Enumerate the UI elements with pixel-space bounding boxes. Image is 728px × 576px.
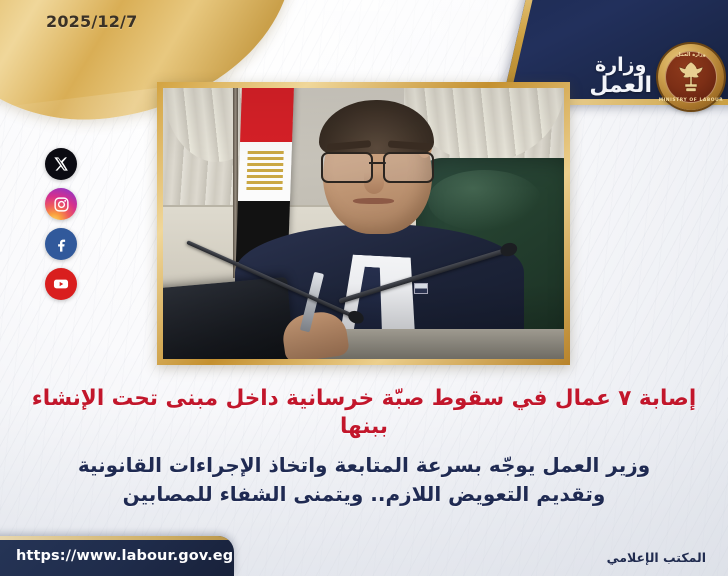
- website-url[interactable]: https://www.labour.gov.eg: [0, 548, 233, 564]
- facebook-icon: [53, 236, 70, 253]
- media-office-credit: المكتب الإعلامي: [607, 550, 706, 565]
- emblem-arc-bottom-text: MINISTRY OF LABOUR: [658, 98, 724, 103]
- ministry-name-line2: العمل: [589, 75, 652, 97]
- social-links: [45, 148, 77, 300]
- eyeglass-lens-left: [321, 152, 372, 183]
- youtube-icon: [52, 275, 70, 293]
- subline-2: وتقديم التعويض اللازم.. ويتمنى الشفاء لل…: [24, 480, 704, 510]
- egypt-eagle-seal-icon: وزارة العمل MINISTRY OF LABOUR: [658, 44, 724, 110]
- eyeglass-lens-right: [383, 152, 434, 183]
- subline-1: وزير العمل يوجّه بسرعة المتابعة واتخاذ ا…: [24, 451, 704, 481]
- minister-photo: [163, 88, 564, 359]
- news-card: 2025/12/7 وزارة العمل وزارة العمل MINIST…: [0, 0, 728, 576]
- photo-shading-overlay: [163, 88, 564, 359]
- news-text-block: إصابة ٧ عمال في سقوط صبّة خرسانية داخل م…: [24, 385, 704, 510]
- x-twitter-icon: [53, 156, 69, 172]
- emblem-arc-top-text: وزارة العمل: [658, 52, 724, 58]
- eagle-glyph-icon: [676, 60, 706, 94]
- eyeglasses-icon: [321, 152, 433, 179]
- social-link-instagram[interactable]: [45, 188, 77, 220]
- photo-frame: [157, 82, 570, 365]
- ministry-branding: وزارة العمل وزارة العمل MINISTRY OF LABO…: [524, 40, 724, 114]
- headline: إصابة ٧ عمال في سقوط صبّة خرسانية داخل م…: [24, 385, 704, 442]
- social-link-x[interactable]: [45, 148, 77, 180]
- date-label: 2025/12/7: [46, 12, 137, 31]
- website-url-banner[interactable]: https://www.labour.gov.eg: [0, 536, 234, 576]
- social-link-facebook[interactable]: [45, 228, 77, 260]
- instagram-icon: [53, 196, 70, 213]
- social-link-youtube[interactable]: [45, 268, 77, 300]
- ministry-name: وزارة العمل: [589, 56, 652, 98]
